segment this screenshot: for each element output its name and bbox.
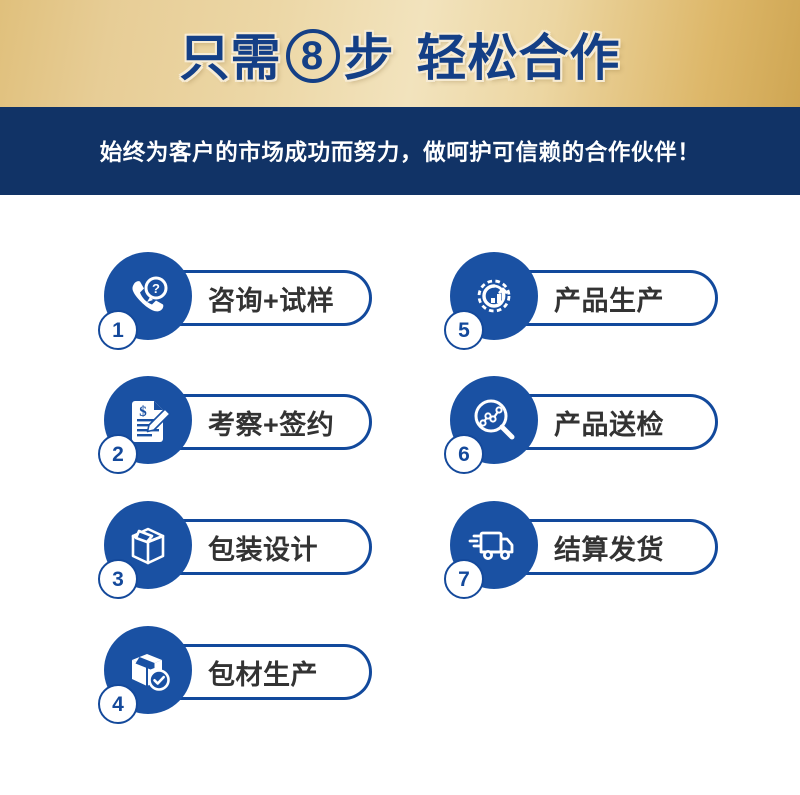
- step-label-text: 咨询+试样: [208, 270, 378, 326]
- step-label-text: 结算发货: [554, 519, 724, 575]
- svg-text:$: $: [139, 404, 147, 420]
- page-title-before: 只需: [180, 18, 282, 90]
- step-number-badge: 1: [98, 310, 138, 350]
- step-label-text: 包装设计: [208, 519, 378, 575]
- step-label-text: 产品生产: [554, 270, 724, 326]
- step-label-text: 包材生产: [208, 644, 378, 700]
- circled-number-badge: 8: [286, 29, 340, 83]
- subtitle-text: 始终为客户的市场成功而努力，做呵护可信赖的合作伙伴！: [100, 135, 701, 167]
- svg-text:?: ?: [152, 281, 160, 296]
- step-number-badge: 3: [98, 559, 138, 599]
- step-label-text: 产品送检: [554, 394, 724, 450]
- step-item-3[interactable]: 3 包装设计: [104, 501, 434, 605]
- page-title: 只需 8 步 轻松合作: [0, 0, 800, 107]
- step-label-text: 考察+签约: [208, 394, 378, 450]
- step-number-badge: 4: [98, 684, 138, 724]
- steps-container: ? 1 咨询+试样 $ 2 考察+签约: [0, 195, 800, 795]
- header-gold-band: 只需 8 步 轻松合作: [0, 0, 800, 107]
- step-item-6[interactable]: 6 产品送检: [450, 376, 780, 480]
- step-item-1[interactable]: ? 1 咨询+试样: [104, 252, 434, 356]
- step-item-2[interactable]: $ 2 考察+签约: [104, 376, 434, 480]
- step-item-7[interactable]: 7 结算发货: [450, 501, 780, 605]
- step-number-badge: 2: [98, 434, 138, 474]
- step-number-badge: 7: [444, 559, 484, 599]
- step-item-5[interactable]: 5 产品生产: [450, 252, 780, 356]
- step-item-4[interactable]: 4 包材生产: [104, 626, 434, 730]
- page-title-middle: 步: [344, 18, 395, 90]
- step-number-badge: 5: [444, 310, 484, 350]
- step-number-badge: 6: [444, 434, 484, 474]
- page-title-after: 轻松合作: [417, 18, 621, 90]
- subtitle-navy-band: 始终为客户的市场成功而努力，做呵护可信赖的合作伙伴！: [0, 107, 800, 195]
